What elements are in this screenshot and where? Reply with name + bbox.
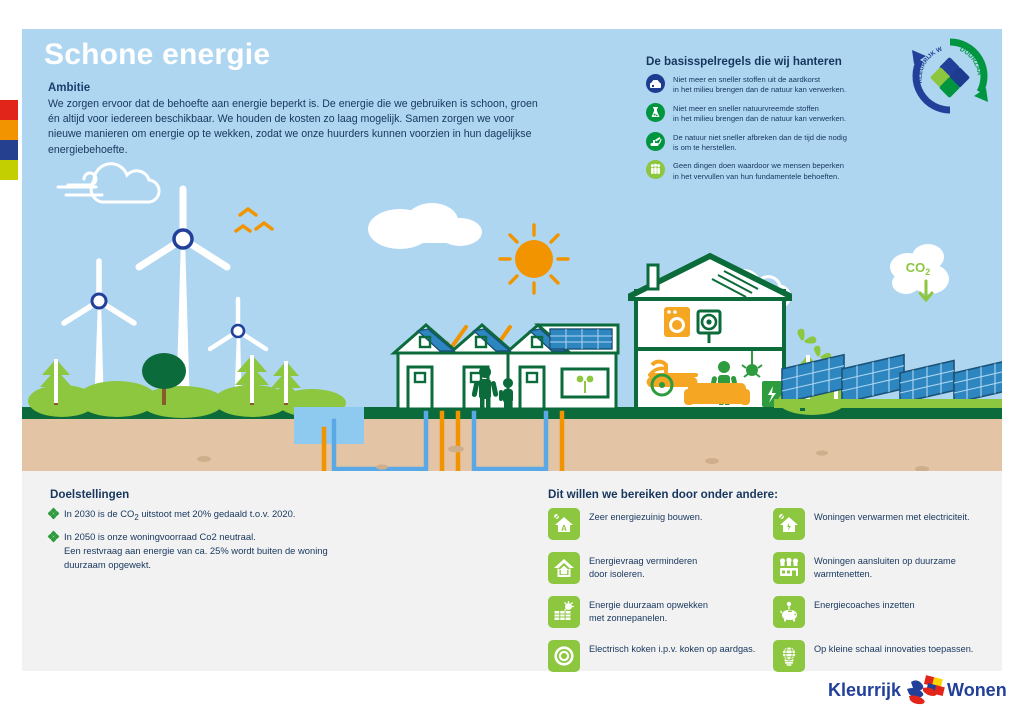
sofa-icon — [684, 383, 750, 405]
goal-item: Woningen aansluiten op duurzame warmtene… — [773, 552, 998, 587]
rule-text: Niet meer en sneller stoffen uit de aard… — [673, 74, 846, 96]
logo-hands-mark — [903, 672, 945, 708]
goal-item: Op kleine schaal innovaties toepassen. — [773, 640, 998, 675]
district-heating-icon — [773, 552, 805, 584]
terraced-houses — [394, 325, 618, 411]
doelstelling-text-after: uitstoot met 20% gedaald t.o.v. 2020. — [139, 508, 296, 519]
co2-cloud: CO2 — [890, 244, 949, 300]
butterflies — [797, 329, 831, 359]
brand-color-bars — [0, 100, 18, 180]
goal-item: Energievraag verminderen door isoleren. — [548, 552, 773, 587]
doelstelling-text: In 2030 is de CO — [64, 508, 134, 519]
doelstellingen-heading: Doelstellingen — [50, 488, 129, 501]
goal-item: Woningen verwarmen met electriciteit. — [773, 508, 998, 543]
goal-text: Energie duurzaam opwekken met zonnepanel… — [589, 596, 708, 624]
ambition-text: We zorgen ervoor dat de behoefte aan ene… — [48, 97, 538, 158]
color-bar-orange — [0, 120, 18, 140]
solar-panel-sun-icon — [548, 596, 580, 628]
doelstelling-extra-line2: duurzaam opgewekt. — [64, 559, 151, 570]
goal-item: A Zeer energiezuinig bouwen. — [548, 508, 773, 543]
page-title: Schone energie — [44, 38, 270, 72]
bereiken-heading: Dit willen we bereiken door onder andere… — [548, 488, 778, 501]
goal-text: Zeer energiezuinig bouwen. — [589, 508, 702, 524]
goal-item: Electrisch koken i.p.v. koken op aardgas… — [548, 640, 773, 675]
chemical-flask-icon — [646, 103, 665, 122]
solar-farm — [774, 355, 1008, 411]
soil-band — [22, 417, 1002, 471]
doelstelling-extra-line1: Een restvraag aan energie van ca. 25% wo… — [64, 545, 328, 556]
doelstelling-text: In 2050 is onze woningvoorraad Co2 neutr… — [64, 531, 256, 542]
svg-text:A: A — [561, 524, 567, 533]
lightbulb-globe-icon — [773, 640, 805, 672]
doelstelling-item: In 2050 is onze woningvoorraad Co2 neutr… — [48, 530, 408, 571]
rule-text: Niet meer en sneller natuurvreemde stoff… — [673, 103, 846, 125]
color-bar-red — [0, 100, 18, 120]
rule-text: De natuur niet sneller afbreken dan de t… — [673, 132, 847, 154]
goal-text: Woningen verwarmen met electriciteit. — [814, 508, 970, 524]
rules-heading: De basisspelregels die wij hanteren — [646, 55, 842, 68]
sun-icon — [500, 225, 568, 293]
duurzaam-badge: DUURZAAM KLEURRIJK WONEN — [908, 34, 992, 118]
diamond-bullet-icon — [48, 531, 59, 542]
rule-item: Niet meer en sneller natuurvreemde stoff… — [646, 103, 886, 125]
heatpump-house-icon — [773, 508, 805, 540]
goal-text: Energiecoaches inzetten — [814, 596, 915, 612]
energy-label-house-icon: A — [548, 508, 580, 540]
color-bar-green — [0, 160, 18, 180]
diamond-logo-mark — [930, 57, 970, 98]
excavator-nature-icon — [646, 132, 665, 151]
kleurrijk-wonen-logo: Kleurrijk Wonen — [828, 672, 996, 708]
solid-cloud — [368, 203, 482, 249]
doelstelling-item: In 2030 is de CO2 uitstoot met 20% gedaa… — [48, 507, 408, 524]
goal-item: Energiecoaches inzetten — [773, 596, 998, 631]
tree-light-1 — [38, 359, 74, 405]
doelstellingen-list: In 2030 is de CO2 uitstoot met 20% gedaa… — [48, 507, 408, 577]
goal-text: Op kleine schaal innovaties toepassen. — [814, 640, 973, 656]
infographic-poster: CO2 Schone energie Ambitie We zorgen erv… — [0, 0, 1024, 725]
earth-crust-icon — [646, 74, 665, 93]
logo-word-wonen: Wonen — [947, 672, 1007, 708]
people-needs-icon — [646, 160, 665, 179]
rule-text: Geen dingen doen waardoor we mensen bepe… — [673, 160, 844, 182]
bereiken-list: A Zeer energiezuinig bouwen. Woningen ve… — [548, 508, 998, 684]
piggy-bank-icon — [773, 596, 805, 628]
rule-item: De natuur niet sneller afbreken dan de t… — [646, 132, 886, 154]
induction-cooktop-icon — [548, 640, 580, 672]
insulated-house-icon — [548, 552, 580, 584]
logo-word-kleurrijk: Kleurrijk — [828, 672, 901, 708]
rules-list: Niet meer en sneller stoffen uit de aard… — [646, 74, 886, 189]
outline-cloud-left — [58, 164, 159, 202]
diamond-bullet-icon — [48, 508, 59, 519]
color-bar-blue — [0, 140, 18, 160]
goal-text: Electrisch koken i.p.v. koken op aardgas… — [589, 640, 755, 656]
water-body — [294, 407, 364, 444]
ambition-heading: Ambitie — [48, 82, 90, 94]
rule-item: Geen dingen doen waardoor we mensen bepe… — [646, 160, 886, 182]
washing-machine-icon — [664, 307, 690, 337]
birds — [236, 209, 272, 231]
goal-text: Woningen aansluiten op duurzame warmtene… — [814, 552, 956, 580]
goal-text: Energievraag verminderen door isoleren. — [589, 552, 697, 580]
goal-item: Energie duurzaam opwekken met zonnepanel… — [548, 596, 773, 631]
rule-item: Niet meer en sneller stoffen uit de aard… — [646, 74, 886, 96]
tree-light-3 — [269, 361, 303, 405]
